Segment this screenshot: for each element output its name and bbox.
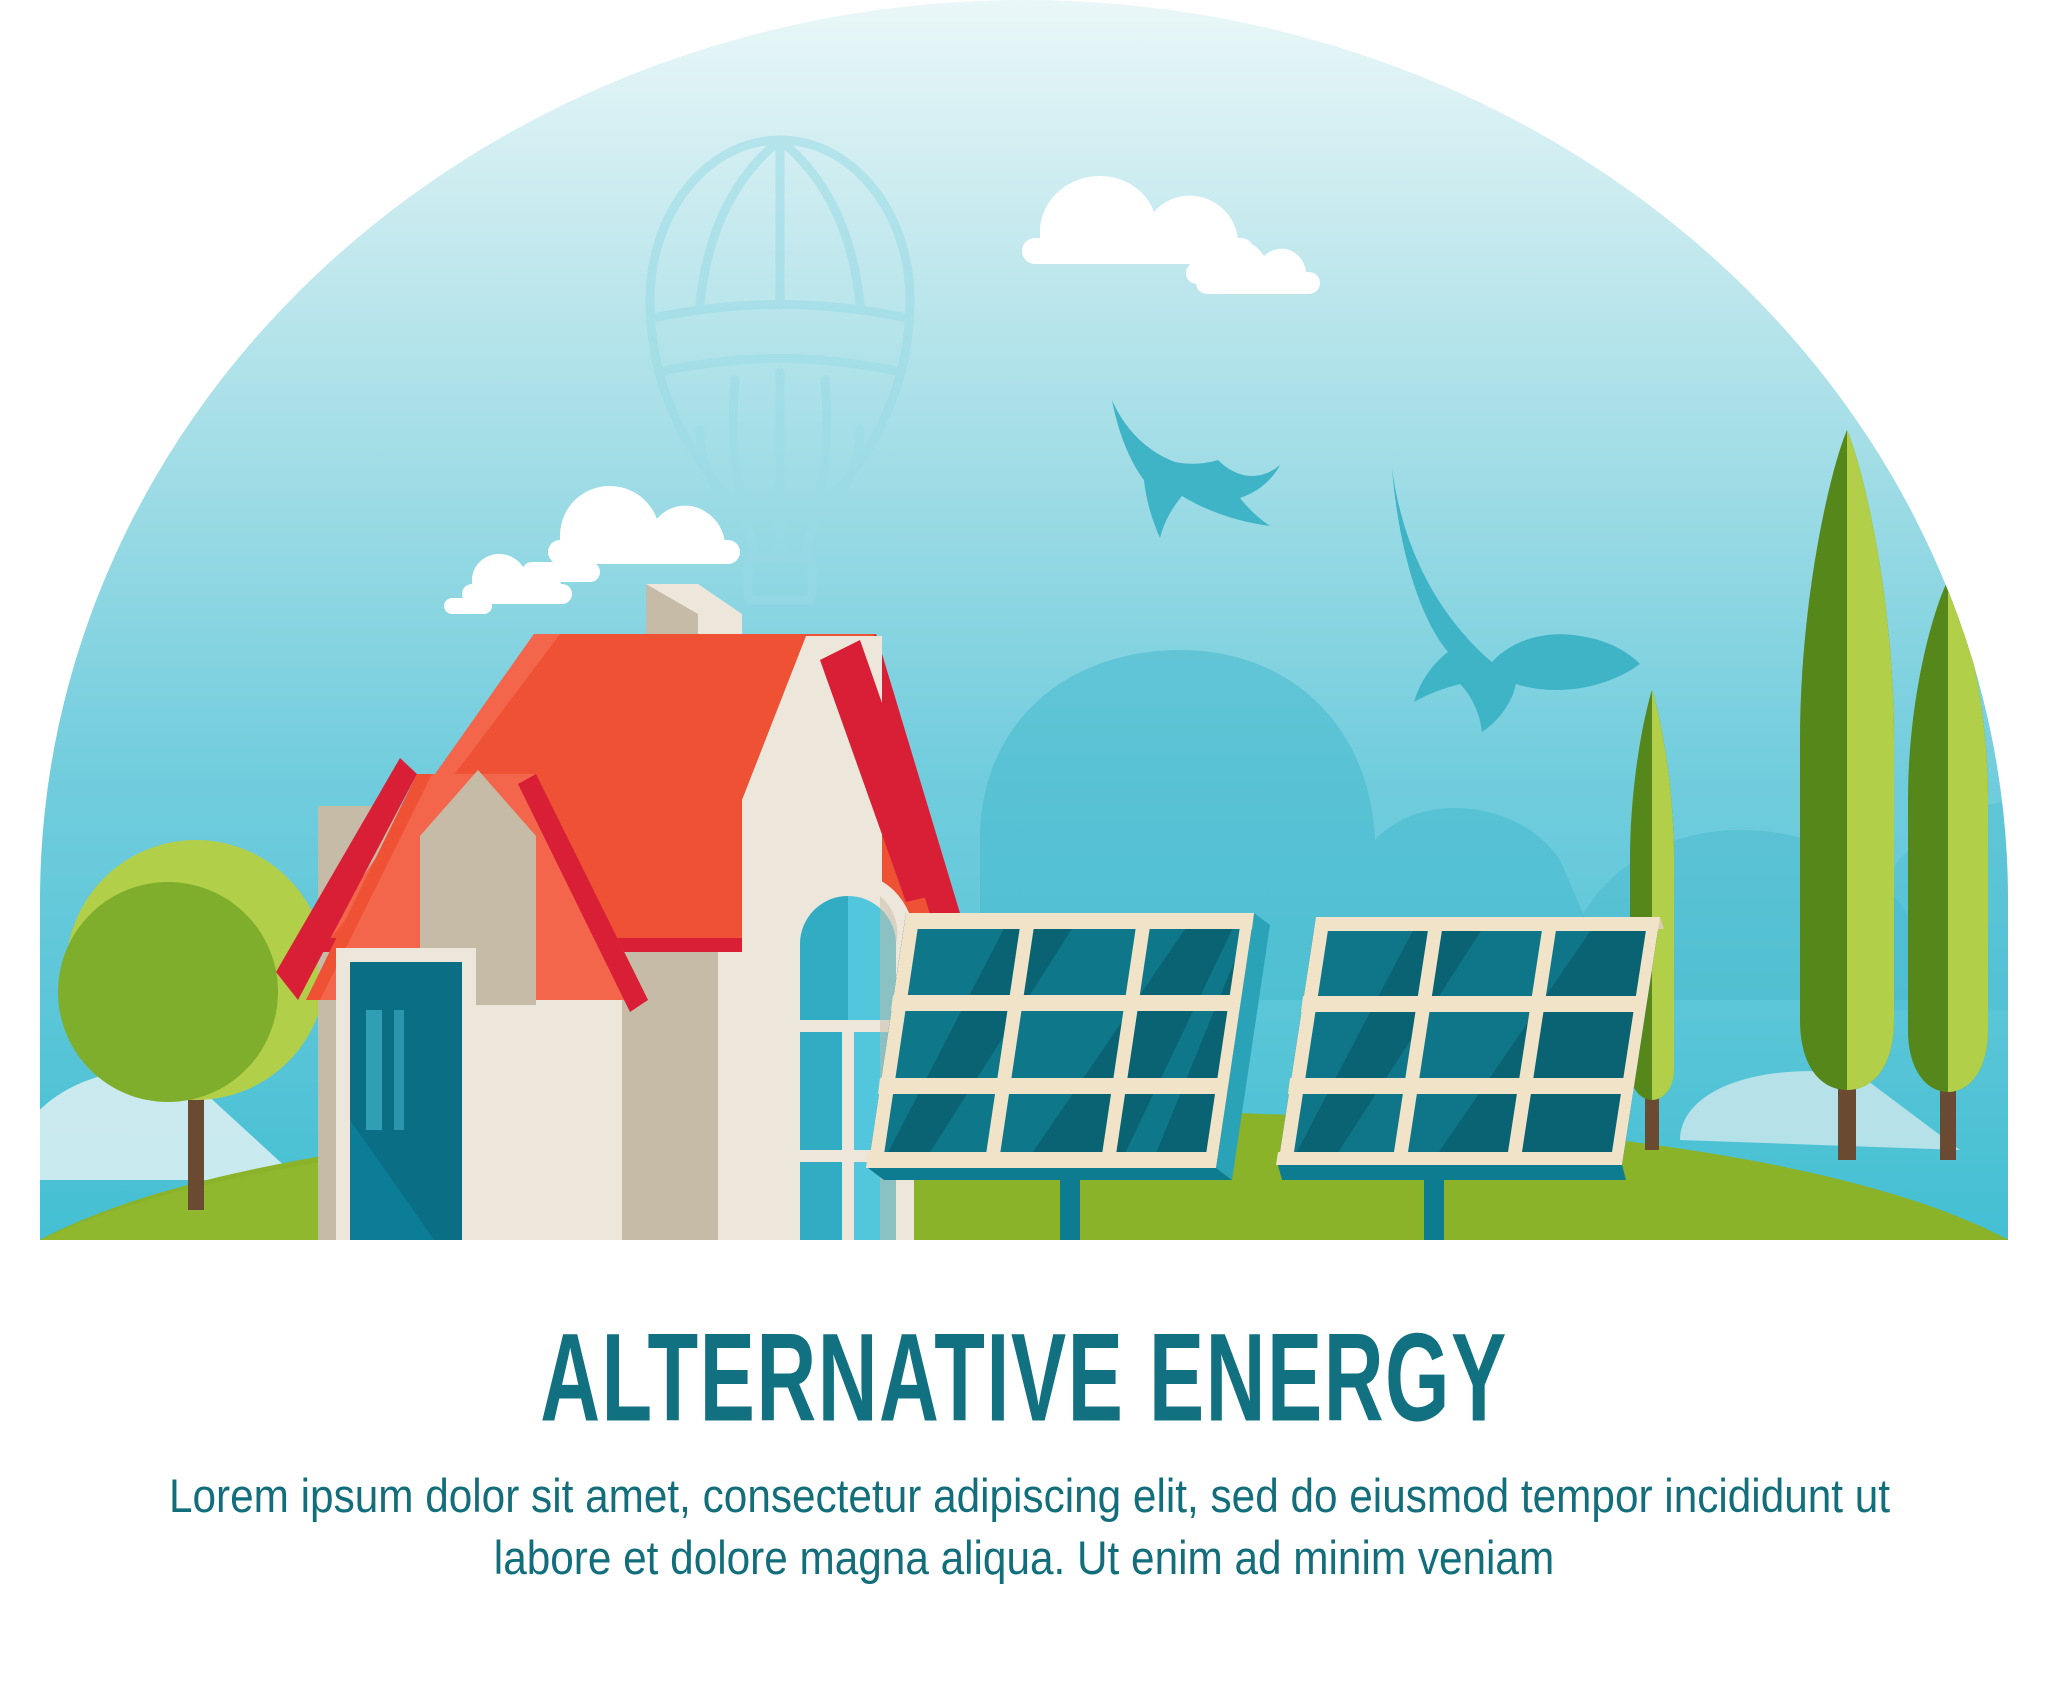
scene-illustration xyxy=(0,0,2048,1290)
scene-svg xyxy=(0,0,2048,1290)
caption-block: ALTERNATIVE ENERGY Lorem ipsum dolor sit… xyxy=(0,1290,2048,1589)
page-title: ALTERNATIVE ENERGY xyxy=(266,1315,1782,1440)
front-door[interactable] xyxy=(336,948,476,1248)
illustration-canvas: ALTERNATIVE ENERGY Lorem ipsum dolor sit… xyxy=(0,0,2048,1687)
subtitle-line-1: Lorem ipsum dolor sit amet, consectetur … xyxy=(169,1465,1879,1527)
subtitle-line-2: labore et dolore magna aliqua. Ut enim a… xyxy=(169,1527,1879,1589)
subtitle-text: Lorem ipsum dolor sit amet, consectetur … xyxy=(169,1465,1879,1589)
